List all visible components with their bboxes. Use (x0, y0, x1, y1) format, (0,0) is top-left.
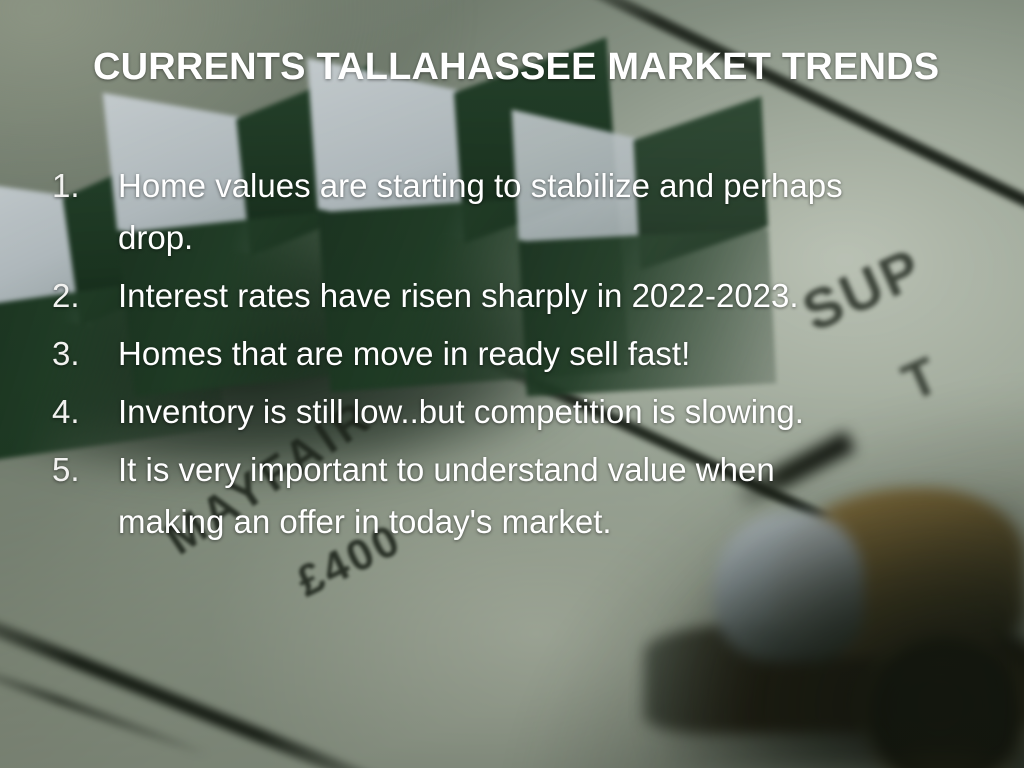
list-item-text: It is very important to understand value… (118, 444, 858, 548)
list-item: 3. Homes that are move in ready sell fas… (52, 328, 984, 380)
numbered-list: 1. Home values are starting to stabilize… (52, 160, 984, 554)
page-title: CURRENTS TALLAHASSEE MARKET TRENDS (93, 46, 939, 89)
list-item: 1. Home values are starting to stabilize… (52, 160, 984, 264)
list-item-number: 5. (52, 444, 118, 496)
list-item-text: Homes that are move in ready sell fast! (118, 328, 690, 380)
list-item: 5. It is very important to understand va… (52, 444, 984, 548)
list-item: 2. Interest rates have risen sharply in … (52, 270, 984, 322)
list-item-number: 3. (52, 328, 118, 380)
slide-content: CURRENTS TALLAHASSEE MARKET TRENDS 1. Ho… (0, 0, 1024, 768)
list-item-number: 2. (52, 270, 118, 322)
list-item-text: Inventory is still low..but competition … (118, 386, 804, 438)
list-item: 4. Inventory is still low..but competiti… (52, 386, 984, 438)
list-item-text: Interest rates have risen sharply in 202… (118, 270, 799, 322)
list-item-number: 1. (52, 160, 118, 212)
presentation-slide: MAYFAIR £400 SUP T CURRENTS TALLAHASSEE … (0, 0, 1024, 768)
list-item-text: Home values are starting to stabilize an… (118, 160, 858, 264)
list-item-number: 4. (52, 386, 118, 438)
